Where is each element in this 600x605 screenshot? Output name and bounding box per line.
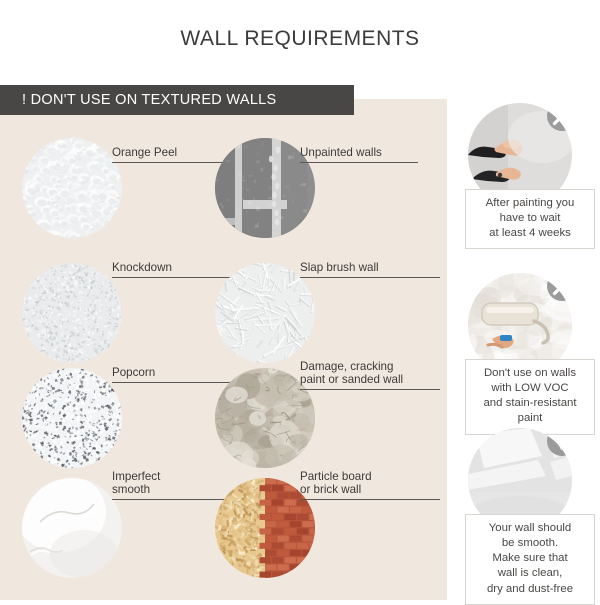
swatch-label-underline: [112, 275, 242, 278]
swatch-image-slap-brush-wall: [215, 263, 315, 363]
swatch-label-orange-peel: Orange Peel: [112, 146, 230, 163]
cross-icon: [547, 273, 572, 301]
infographic-page: WALL REQUIREMENTS ! DON'T USE ON TEXTURE…: [0, 0, 600, 600]
card-text-smooth-clean-wall: Your wall should be smooth. Make sure th…: [465, 514, 595, 605]
page-title: WALL REQUIREMENTS: [0, 27, 600, 51]
swatch-label-popcorn: Popcorn: [112, 366, 230, 383]
warning-banner: ! DON'T USE ON TEXTURED WALLS: [0, 85, 354, 115]
swatch-label-damage-cracking: Damage, cracking paint or sanded wall: [300, 360, 440, 390]
cross-icon: [547, 103, 572, 131]
swatch-label-knockdown: Knockdown: [112, 261, 242, 278]
swatch-image-imperfect-smooth: [22, 478, 122, 578]
swatch-label-underline: [300, 275, 440, 278]
check-icon: [547, 428, 572, 456]
swatch-label-underline: [300, 497, 440, 500]
swatch-label-particle-brick: Particle board or brick wall: [300, 470, 440, 500]
swatch-label-underline: [300, 160, 418, 163]
swatch-image-knockdown: [22, 263, 122, 363]
swatch-label-unpainted-walls: Unpainted walls: [300, 146, 418, 163]
swatch-label-slap-brush-wall: Slap brush wall: [300, 261, 440, 278]
warning-banner-label: ! DON'T USE ON TEXTURED WALLS: [0, 92, 277, 108]
swatch-label-underline: [112, 160, 230, 163]
swatch-image-popcorn: [22, 368, 122, 468]
card-text-wait-4-weeks: After painting you have to wait at least…: [465, 189, 595, 249]
swatch-image-orange-peel: [22, 138, 122, 238]
card-text-low-voc-paint: Don't use on walls with LOW VOC and stai…: [465, 359, 595, 435]
swatch-label-underline: [112, 497, 230, 500]
swatch-label-underline: [300, 387, 440, 390]
swatch-label-underline: [112, 380, 230, 383]
swatch-label-imperfect-smooth: Imperfect smooth: [112, 470, 230, 500]
